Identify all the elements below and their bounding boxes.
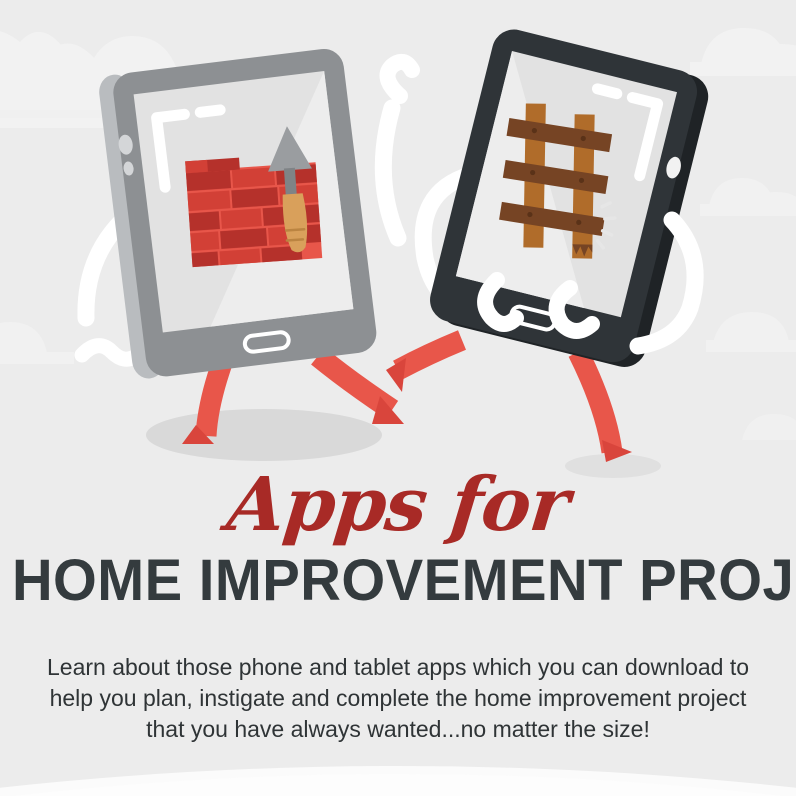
poster-text-block: Apps for HOME IMPROVEMENT PROJECTS Learn… <box>0 470 796 745</box>
infographic-poster: Apps for HOME IMPROVEMENT PROJECTS Learn… <box>0 0 796 796</box>
fence-rails <box>499 118 613 236</box>
body-copy: Learn about those phone and tablet apps … <box>38 652 758 745</box>
page-title: HOME IMPROVEMENT PROJECTS <box>12 552 784 610</box>
right-tablet-device <box>425 25 713 372</box>
right-tablet-front-leg <box>578 352 612 452</box>
right-tablet-back-leg <box>398 340 462 370</box>
right-tablet-highlight-dash <box>597 89 616 94</box>
script-title: Apps for <box>0 470 796 540</box>
